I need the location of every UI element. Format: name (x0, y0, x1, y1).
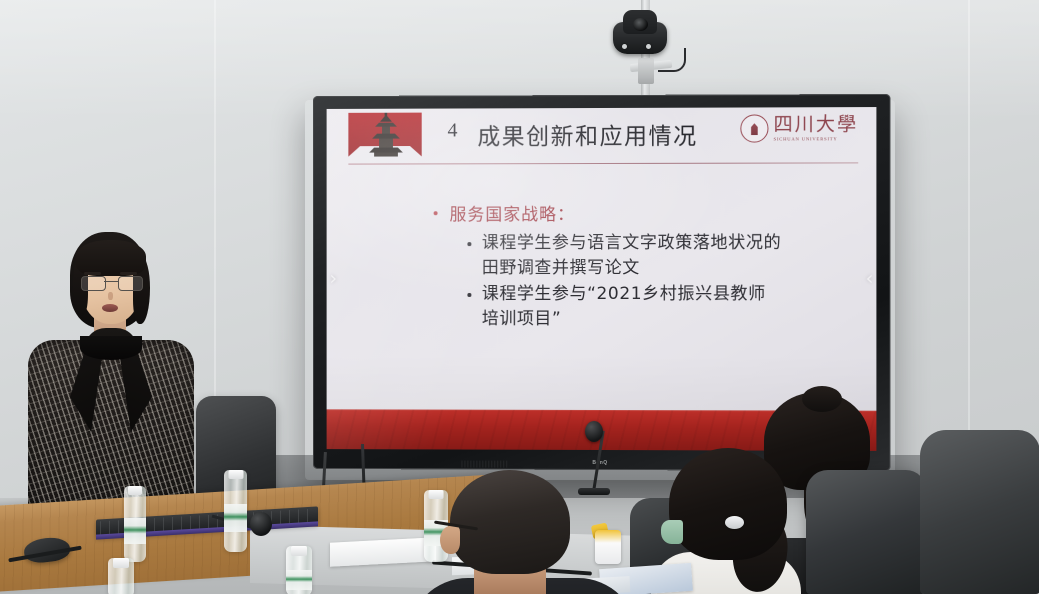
conference-room-photo: BenQ 4 (0, 0, 1039, 594)
presenter-standing (18, 232, 200, 532)
slide-title: 成果创新和应用情况 (477, 117, 697, 152)
sub-bullet-text: 课程学生参与语言文字政策落地状况的田野调查并撰写论文 (482, 231, 782, 280)
presenter-eyebrow (120, 272, 137, 275)
water-bottle (124, 486, 146, 562)
attendee-hair-bun (802, 386, 842, 412)
presenter-nose (108, 292, 113, 300)
face-mask-icon (661, 520, 683, 544)
glasses-bridge (104, 281, 118, 282)
bottle-cap (228, 470, 243, 479)
office-chair (806, 470, 926, 594)
bullet-dot-icon (434, 211, 438, 215)
panel-right-trigger-icon[interactable]: ‹ (866, 269, 874, 288)
sub-bullet-row: 课程学生参与语言文字政策落地状况的田野调查并撰写论文 (467, 231, 836, 281)
glasses-icon (81, 276, 141, 289)
speaker-grill (461, 461, 507, 468)
panel-left-trigger-icon[interactable]: › (330, 270, 338, 289)
camera-indicator-dot (646, 44, 651, 49)
pagoda-icon (366, 113, 406, 157)
glasses-lens (118, 276, 143, 291)
bottle-cap (128, 486, 142, 495)
display-brand-label: BenQ (592, 460, 607, 466)
water-bottle (108, 558, 134, 594)
bottle-label (124, 518, 146, 544)
logo-name-cn: 四川大學 (774, 115, 859, 134)
desk-microphone-head (250, 512, 272, 536)
bullet-dot-icon (467, 293, 470, 296)
camera-indicator-dot (622, 44, 627, 49)
bottle-cap (291, 546, 307, 556)
attendee-hair (669, 448, 787, 560)
presenter-hair-front (76, 240, 146, 276)
lead-bullet-text: 服务国家战略： (450, 200, 576, 225)
bottle-label (286, 570, 312, 590)
lead-bullet-row: 服务国家战略： (434, 200, 836, 226)
water-bottle (286, 546, 312, 594)
hair-tie (725, 516, 744, 529)
scu-seal-icon (740, 114, 768, 142)
header-divider-rule (348, 162, 858, 164)
attendee-head (450, 470, 570, 574)
attendee-foreground-man (430, 470, 600, 594)
sub-bullet-row: 课程学生参与“2021乡村振兴县教师培训项目” (467, 282, 836, 332)
office-chair (920, 430, 1039, 594)
bullet-dot-icon (467, 242, 470, 245)
presenter-eyebrow (84, 272, 101, 275)
jacket-collar (80, 336, 142, 360)
logo-name-en: SICHUAN UNIVERSITY (774, 136, 859, 141)
slide-section-number: 4 (448, 119, 458, 142)
glasses-lens (81, 276, 106, 291)
water-bottle (224, 470, 247, 552)
camera-lens-icon (633, 18, 648, 31)
camera-bracket (638, 58, 654, 84)
sub-bullet-text: 课程学生参与“2021乡村振兴县教师培训项目” (482, 282, 782, 331)
bottle-cap (113, 558, 129, 568)
slide-header: 4 成果创新和应用情况 四川大學 SICHUAN UNIVERSITY (327, 107, 877, 167)
university-logo: 四川大學 SICHUAN UNIVERSITY (740, 114, 858, 142)
wall-seam (968, 0, 970, 430)
podium-microphone-head (585, 421, 603, 442)
presenter-mouth (102, 304, 118, 312)
camera-cable (658, 48, 686, 72)
attendee-ear (440, 526, 460, 554)
bottle-label (224, 504, 247, 532)
slide-body: 服务国家战略： 课程学生参与语言文字政策落地状况的田野调查并撰写论文 课程学生参… (434, 200, 836, 334)
